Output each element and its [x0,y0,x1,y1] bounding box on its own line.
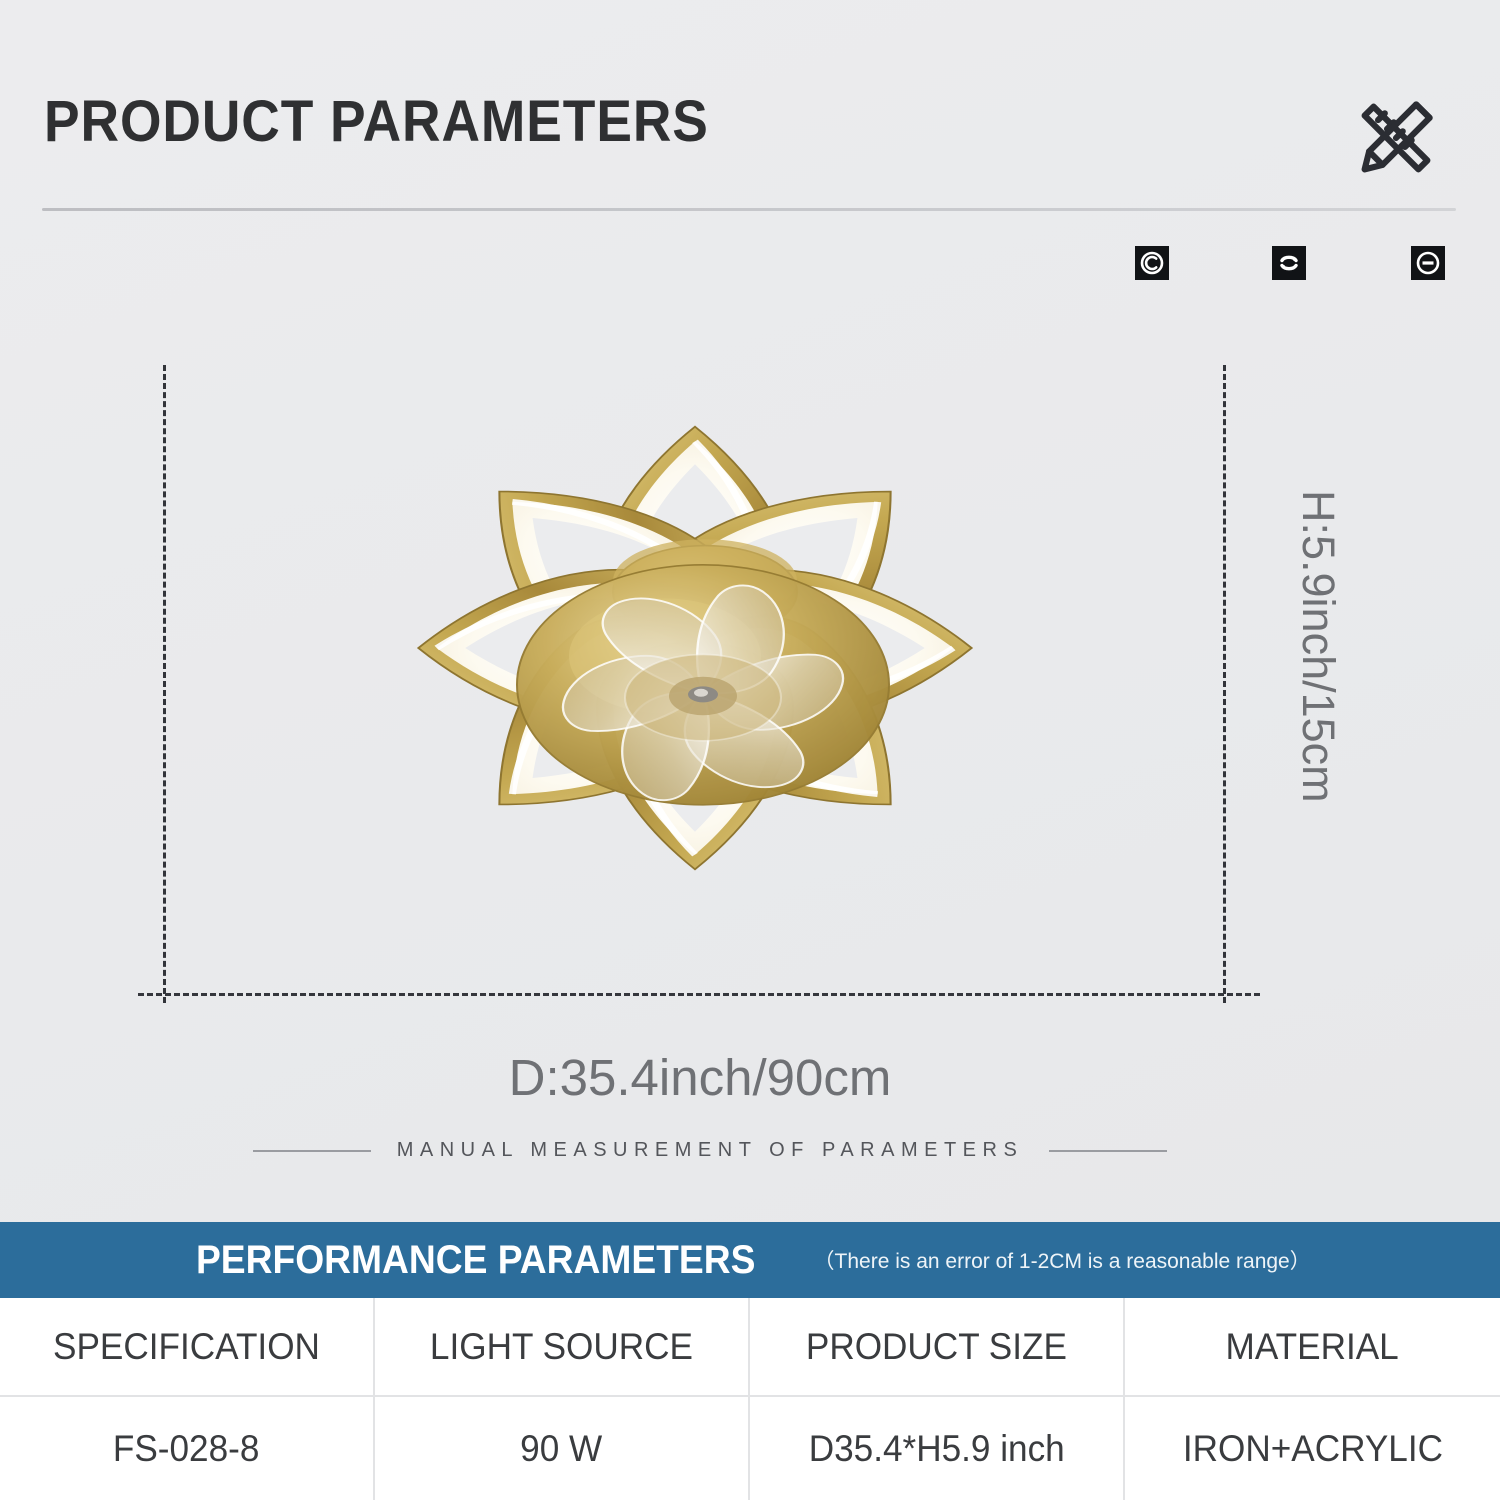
product-image-flower-ceiling-fan [185,318,1205,958]
page-title: PRODUCT PARAMETERS [44,88,709,155]
header-cell-light-source: LIGHT SOURCE [375,1298,750,1395]
dimension-line-left [163,365,166,1003]
certification-badges [0,244,1500,286]
note-rule-left [253,1150,371,1152]
banner-title: PERFORMANCE PARAMETERS [196,1238,755,1283]
copyright-badge-icon [1135,246,1169,280]
table-header-row: SPECIFICATION LIGHT SOURCE PRODUCT SIZE … [0,1298,1500,1395]
value-specification: FS-028-8 [113,1428,260,1470]
pencil-ruler-icon [1340,82,1452,194]
product-parameters-section: PRODUCT PARAMETERS [0,0,1500,1222]
minus-circle-badge-icon [1411,246,1445,280]
banner-note: （There is an error of 1-2CM is a reasona… [814,1245,1311,1275]
manual-measurement-note: MANUAL MEASUREMENT OF PARAMETERS [0,1139,1420,1162]
header-cell-product-size: PRODUCT SIZE [750,1298,1125,1395]
specification-table: SPECIFICATION LIGHT SOURCE PRODUCT SIZE … [0,1298,1500,1500]
height-dimension-label: H:5.9inch/15cm [1292,490,1344,870]
value-cell-light-source: 90 W [375,1397,750,1500]
value-cell-product-size: D35.4*H5.9 inch [750,1397,1125,1500]
value-product-size: D35.4*H5.9 inch [809,1428,1065,1470]
dimension-line-right [1223,365,1226,1003]
diameter-dimension-label: D:35.4inch/90cm [0,1048,1400,1107]
sync-badge-icon [1272,246,1306,280]
note-text: MANUAL MEASUREMENT OF PARAMETERS [397,1139,1024,1162]
header-label-material: MATERIAL [1226,1326,1399,1368]
header-cell-material: MATERIAL [1125,1298,1500,1395]
header-label-product-size: PRODUCT SIZE [806,1326,1067,1368]
dimension-line-bottom [138,993,1260,996]
title-divider [42,208,1456,211]
note-rule-right [1049,1150,1167,1152]
table-value-row: FS-028-8 90 W D35.4*H5.9 inch IRON+ACRYL… [0,1395,1500,1500]
performance-parameters-banner: PERFORMANCE PARAMETERS （There is an erro… [0,1222,1500,1298]
value-material: IRON+ACRYLIC [1182,1428,1442,1470]
value-cell-material: IRON+ACRYLIC [1125,1397,1500,1500]
value-cell-specification: FS-028-8 [0,1397,375,1500]
header-cell-specification: SPECIFICATION [0,1298,375,1395]
header-label-specification: SPECIFICATION [53,1326,320,1368]
header-label-light-source: LIGHT SOURCE [430,1326,693,1368]
value-light-source: 90 W [520,1428,602,1470]
